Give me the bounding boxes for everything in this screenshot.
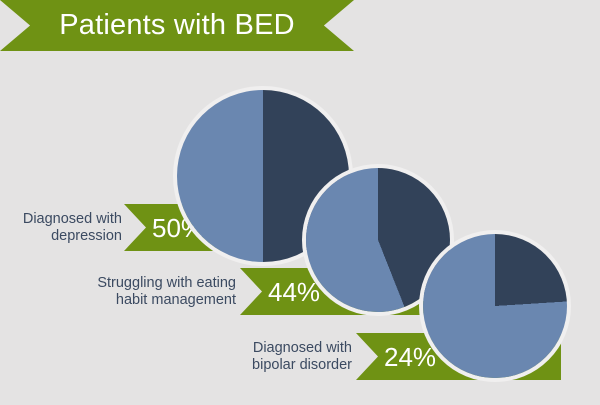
stat-percent-bipolar: 24% (384, 344, 436, 370)
page-title: Patients with BED (0, 0, 354, 51)
infographic-canvas: Patients with BED 50% Diagnosed with dep… (0, 0, 600, 405)
stat-label-depression: Diagnosed with depression (6, 211, 122, 245)
stat-percent-eating-habits: 44% (268, 279, 320, 305)
pie-chart-bipolar (423, 234, 567, 378)
stat-label-eating-habits: Struggling with eating habit management (70, 275, 236, 309)
stat-label-bipolar: Diagnosed with bipolar disorder (208, 340, 352, 374)
